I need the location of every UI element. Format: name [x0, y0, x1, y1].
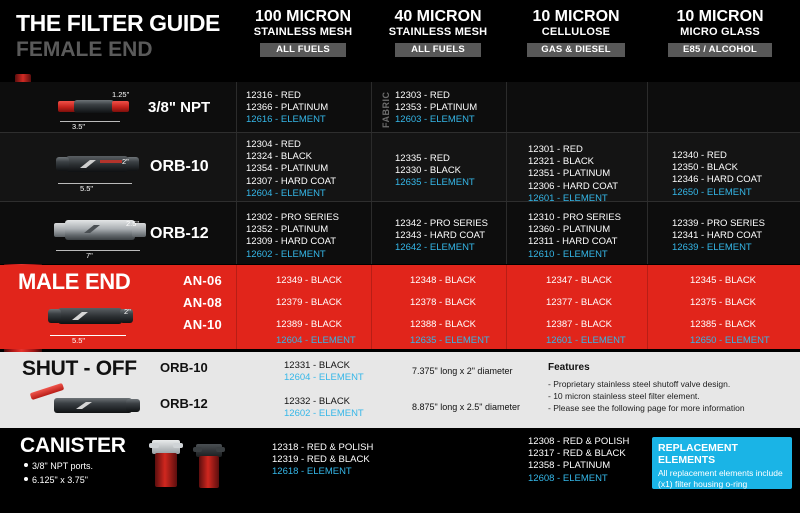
part-code: 12335 - RED	[395, 153, 475, 165]
row-label-an-06: AN-06	[183, 273, 222, 288]
part-code-element: 12650 - ELEMENT	[690, 335, 770, 347]
part-code-element: 12602 - ELEMENT	[284, 408, 364, 420]
part-code: 12375 - BLACK	[690, 297, 756, 309]
dimension-diameter: 2"	[124, 307, 131, 316]
part-code-element: 12604 - ELEMENT	[284, 372, 364, 384]
codes-canister-100-micron: 12318 - RED & POLISH 12319 - RED & BLACK…	[272, 442, 373, 513]
replacement-body: All replacement elements include (x1) fi…	[652, 466, 792, 495]
part-code: 12352 - PLATINUM	[246, 224, 339, 236]
title-block: THE FILTER GUIDE FEMALE END	[16, 10, 220, 62]
part-code: 12303 - RED	[395, 90, 477, 102]
dimension-orb-10: 7.375" long x 2" diameter	[412, 366, 512, 376]
part-code: 12379 - BLACK	[276, 297, 342, 309]
part-code-element: 12602 - ELEMENT	[246, 249, 339, 261]
part-code: 12332 - BLACK	[284, 396, 350, 408]
part-code-element: 12635 - ELEMENT	[410, 335, 490, 347]
row-label-orb-12: ORB-12	[150, 225, 209, 243]
part-code-element: 12635 - ELEMENT	[395, 177, 475, 189]
section-title-male-end: MALE END	[18, 269, 131, 295]
part-code-element: 12604 - ELEMENT	[276, 335, 356, 347]
section-shut-off: SHUT - OFF ORB-10 ORB-12 12331 - BLACK 1…	[0, 352, 800, 428]
row-female-orb-12: 2.5" 7" ORB-12 12302 - PRO SERIES 12352 …	[0, 202, 800, 264]
feature-line: - 10 micron stainless steel filter eleme…	[548, 390, 700, 402]
page-title: THE FILTER GUIDE	[16, 10, 220, 36]
row-female-orb-10: 2" 5.5" ORB-10 12304 - RED 12324 - BLACK…	[0, 133, 800, 201]
column-header-100-micron: 100 MICRON STAINLESS MESH ALL FUELS	[236, 8, 370, 57]
column-material: MICRO GLASS	[647, 26, 793, 39]
dimension-diameter: 2.5"	[126, 219, 139, 228]
part-code: 12321 - BLACK	[528, 156, 618, 168]
codes-canister-10-micron: 12308 - RED & POLISH 12317 - RED & BLACK…	[528, 436, 629, 507]
replacement-title: REPLACEMENT ELEMENTS	[652, 437, 792, 466]
product-thumb-shut-off	[30, 386, 146, 416]
column-micron: 10 MICRON	[647, 8, 793, 25]
part-code: 12318 - RED & POLISH	[272, 442, 373, 454]
part-code: 12358 - PLATINUM	[528, 460, 629, 472]
column-header-10-micron-cellulose: 10 MICRON CELLULOSE GAS & DIESEL	[506, 8, 646, 57]
column-material: CELLULOSE	[506, 26, 646, 39]
part-code: 12331 - BLACK	[284, 360, 350, 372]
product-thumb-3-8-npt	[58, 96, 130, 116]
dimension-diameter: 2"	[122, 157, 129, 166]
row-label-an-08: AN-08	[183, 295, 222, 310]
part-code-element: 12604 - ELEMENT	[246, 188, 359, 200]
part-code: 12308 - RED & POLISH	[528, 436, 629, 448]
replacement-elements-callout: REPLACEMENT ELEMENTS All replacement ele…	[652, 437, 792, 489]
part-code: 12309 - HARD COAT	[246, 236, 339, 248]
part-code: 12302 - PRO SERIES	[246, 212, 339, 224]
feature-line: - Please see the following page for more…	[548, 402, 745, 414]
part-code-element: 12639 - ELEMENT	[672, 242, 765, 254]
dimension-orb-12: 8.875" long x 2.5" diameter	[412, 402, 520, 412]
part-code: 12316 - RED	[246, 90, 328, 102]
section-title-canister: CANISTER	[20, 434, 126, 458]
canister-note: 6.125" x 3.75"	[32, 474, 88, 487]
part-code: 12353 - PLATINUM	[395, 102, 477, 114]
row-label-shut-off-orb-12: ORB-12	[160, 396, 208, 411]
section-title-female-end: FEMALE END	[16, 38, 220, 62]
column-fuel-badge: ALL FUELS	[395, 43, 481, 57]
part-code-element: 12608 - ELEMENT	[528, 473, 629, 485]
row-label-3-8-npt: 3/8" NPT	[148, 99, 210, 116]
part-code: 12343 - HARD COAT	[395, 230, 488, 242]
part-code: 12319 - RED & BLACK	[272, 454, 373, 466]
column-micron: 40 MICRON	[371, 8, 505, 25]
part-code-element: 12601 - ELEMENT	[546, 335, 626, 347]
section-male-end: MALE END 2" 5.5" AN-06 AN-08 AN-10 12349…	[0, 265, 800, 349]
part-code: 12339 - PRO SERIES	[672, 218, 765, 230]
features-title: Features	[548, 362, 590, 373]
column-header-10-micron-micro-glass: 10 MICRON MICRO GLASS E85 / ALCOHOL	[647, 8, 793, 57]
part-code: 12366 - PLATINUM	[246, 102, 328, 114]
canister-image-black	[190, 444, 228, 492]
section-canister: CANISTER 3/8" NPT ports. 6.125" x 3.75" …	[0, 428, 800, 499]
part-code: 12388 - BLACK	[410, 319, 476, 331]
fabric-label: FABRIC	[381, 92, 391, 129]
part-code: 12310 - PRO SERIES	[528, 212, 621, 224]
part-code: 12342 - PRO SERIES	[395, 218, 488, 230]
part-code: 12348 - BLACK	[410, 275, 476, 287]
part-code: 12385 - BLACK	[690, 319, 756, 331]
column-fuel-badge: ALL FUELS	[260, 43, 346, 57]
dimension-diameter: 1.25"	[112, 90, 129, 99]
codes-100-micron: 12304 - RED 12324 - BLACK 12354 - PLATIN…	[246, 139, 359, 207]
dimension-length: 5.5"	[80, 184, 93, 193]
part-code: 12346 - HARD COAT	[672, 174, 762, 186]
part-code: 12360 - PLATINUM	[528, 224, 621, 236]
canister-note: 3/8" NPT ports.	[32, 460, 93, 473]
dimension-length: 5.5"	[72, 336, 85, 345]
part-code: 12350 - BLACK	[672, 162, 762, 174]
part-code: 12387 - BLACK	[546, 319, 612, 331]
column-fuel-badge: E85 / ALCOHOL	[668, 43, 772, 57]
part-code: 12349 - BLACK	[276, 275, 342, 287]
part-code: 12301 - RED	[528, 144, 618, 156]
column-material: STAINLESS MESH	[236, 26, 370, 39]
part-code: 12351 - PLATINUM	[528, 168, 618, 180]
part-code: 12347 - BLACK	[546, 275, 612, 287]
column-material: STAINLESS MESH	[371, 26, 505, 39]
bullet-icon	[24, 477, 28, 481]
part-code: 12304 - RED	[246, 139, 359, 151]
dimension-length: 7"	[86, 251, 93, 260]
column-micron: 10 MICRON	[506, 8, 646, 25]
part-code-element: 12642 - ELEMENT	[395, 242, 488, 254]
canister-image-polish	[146, 440, 186, 492]
part-code: 12311 - HARD COAT	[528, 236, 621, 248]
bullet-icon	[24, 463, 28, 467]
part-code: 12340 - RED	[672, 150, 762, 162]
part-code: 12341 - HARD COAT	[672, 230, 765, 242]
part-code: 12378 - BLACK	[410, 297, 476, 309]
feature-line: - Proprietary stainless steel shutoff va…	[548, 378, 730, 390]
part-code: 12377 - BLACK	[546, 297, 612, 309]
part-code: 12324 - BLACK	[246, 151, 359, 163]
page-header: THE FILTER GUIDE FEMALE END 100 MICRON S…	[0, 0, 800, 82]
part-code: 12306 - HARD COAT	[528, 181, 618, 193]
dimension-length: 3.5"	[72, 122, 85, 131]
part-code: 12317 - RED & BLACK	[528, 448, 629, 460]
column-micron: 100 MICRON	[236, 8, 370, 25]
row-female-3-8-npt: 1.25" 3.5" 3/8" NPT 12316 - RED 12366 - …	[0, 82, 800, 132]
part-code-element: 12610 - ELEMENT	[528, 249, 621, 261]
part-code: 12307 - HARD COAT	[246, 176, 359, 188]
part-code-element: 12616 - ELEMENT	[246, 114, 328, 126]
row-label-an-10: AN-10	[183, 317, 222, 332]
part-code-element: 12650 - ELEMENT	[672, 187, 762, 199]
part-code: 12345 - BLACK	[690, 275, 756, 287]
part-code-element: 12618 - ELEMENT	[272, 466, 373, 478]
row-label-orb-10: ORB-10	[150, 158, 209, 176]
column-fuel-badge: GAS & DIESEL	[527, 43, 625, 57]
part-code: 12330 - BLACK	[395, 165, 475, 177]
part-code-element: 12603 - ELEMENT	[395, 114, 477, 126]
row-label-shut-off-orb-10: ORB-10	[160, 360, 208, 375]
column-header-40-micron: 40 MICRON STAINLESS MESH ALL FUELS	[371, 8, 505, 57]
part-code: 12389 - BLACK	[276, 319, 342, 331]
filter-guide-page: THE FILTER GUIDE FEMALE END 100 MICRON S…	[0, 0, 800, 499]
part-code: 12354 - PLATINUM	[246, 163, 359, 175]
section-title-shut-off: SHUT - OFF	[22, 357, 137, 381]
